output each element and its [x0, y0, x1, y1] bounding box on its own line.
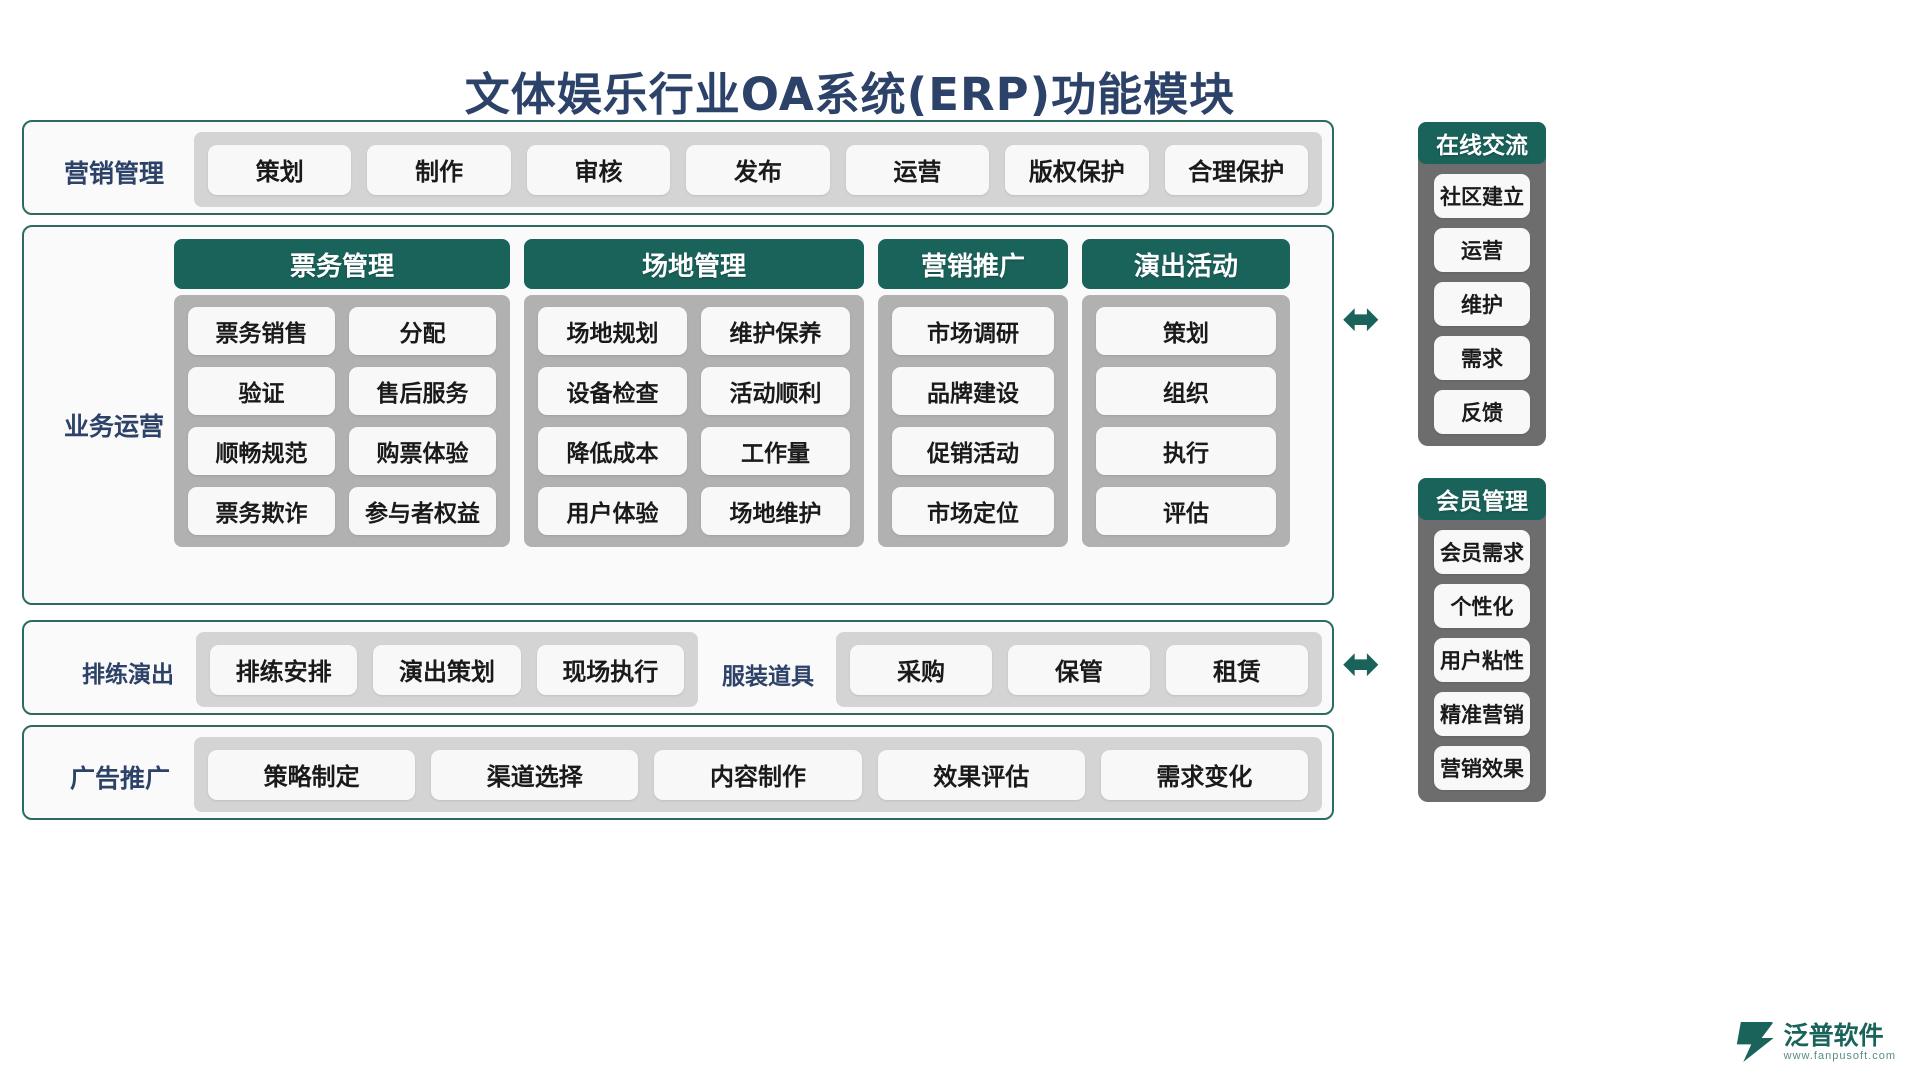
diagram-canvas: 文体娱乐行业OA系统(ERP)功能模块 营销管理 策划 制作 审核 发布 运营 … — [0, 0, 1920, 1080]
venue-item[interactable]: 用户体验 — [538, 487, 687, 535]
costume-item[interactable]: 保管 — [1008, 645, 1150, 695]
column-header-venue: 场地管理 — [524, 239, 864, 289]
section-label-costume: 服装道具 — [708, 657, 828, 691]
promotion-item[interactable]: 品牌建设 — [892, 367, 1054, 415]
promotion-item[interactable]: 市场调研 — [892, 307, 1054, 355]
advertising-item[interactable]: 渠道选择 — [431, 750, 638, 800]
ticketing-item[interactable]: 售后服务 — [349, 367, 496, 415]
column-body-performance: 策划 组织 执行 评估 — [1082, 295, 1290, 547]
advertising-item[interactable]: 策略制定 — [208, 750, 415, 800]
brand-logo-text: 泛普软件 www.fanpusoft.com — [1784, 1022, 1896, 1062]
operations-column-venue: 场地管理 场地规划 维护保养 设备检查 活动顺利 降低成本 工作量 用户体验 场… — [524, 239, 864, 547]
member-management-item[interactable]: 个性化 — [1434, 584, 1530, 628]
section-label-business-operations: 业务运营 — [44, 407, 184, 443]
ticketing-item[interactable]: 参与者权益 — [349, 487, 496, 535]
brand-name-cn: 泛普软件 — [1784, 1022, 1896, 1050]
venue-item[interactable]: 场地维护 — [701, 487, 850, 535]
double-arrow-icon-top: ⬌ — [1342, 295, 1381, 341]
online-communication-item[interactable]: 需求 — [1434, 336, 1530, 380]
brand-url: www.fanpusoft.com — [1784, 1050, 1896, 1062]
section-label-marketing: 营销管理 — [44, 154, 184, 190]
side-panel-header-online-communication: 在线交流 — [1418, 122, 1546, 164]
member-management-item[interactable]: 精准营销 — [1434, 692, 1530, 736]
ticketing-item[interactable]: 购票体验 — [349, 427, 496, 475]
column-body-promotion: 市场调研 品牌建设 促销活动 市场定位 — [878, 295, 1068, 547]
section-business-operations: 业务运营 票务管理 票务销售 分配 验证 售后服务 顺畅规范 购票体验 票务欺诈… — [22, 225, 1334, 605]
page-title: 文体娱乐行业OA系统(ERP)功能模块 — [0, 58, 1700, 123]
performance-item[interactable]: 执行 — [1096, 427, 1276, 475]
online-communication-item[interactable]: 维护 — [1434, 282, 1530, 326]
ticketing-item[interactable]: 顺畅规范 — [188, 427, 335, 475]
online-communication-item[interactable]: 社区建立 — [1434, 174, 1530, 218]
rehearsal-item[interactable]: 现场执行 — [537, 645, 684, 695]
performance-item[interactable]: 策划 — [1096, 307, 1276, 355]
column-header-promotion: 营销推广 — [878, 239, 1068, 289]
performance-item[interactable]: 评估 — [1096, 487, 1276, 535]
venue-item[interactable]: 场地规划 — [538, 307, 687, 355]
promotion-item[interactable]: 市场定位 — [892, 487, 1054, 535]
venue-item[interactable]: 降低成本 — [538, 427, 687, 475]
operations-column-performance: 演出活动 策划 组织 执行 评估 — [1082, 239, 1290, 547]
advertising-item-tray: 策略制定 渠道选择 内容制作 效果评估 需求变化 — [194, 737, 1322, 812]
marketing-item[interactable]: 策划 — [208, 145, 351, 195]
ticketing-item[interactable]: 分配 — [349, 307, 496, 355]
costume-item-tray: 采购 保管 租赁 — [836, 632, 1322, 707]
advertising-item[interactable]: 需求变化 — [1101, 750, 1308, 800]
column-body-venue: 场地规划 维护保养 设备检查 活动顺利 降低成本 工作量 用户体验 场地维护 — [524, 295, 864, 547]
column-header-performance: 演出活动 — [1082, 239, 1290, 289]
online-communication-item[interactable]: 反馈 — [1434, 390, 1530, 434]
side-panel-member-management: 会员管理 会员需求 个性化 用户粘性 精准营销 营销效果 — [1418, 478, 1546, 802]
venue-item[interactable]: 活动顺利 — [701, 367, 850, 415]
rehearsal-item-tray: 排练安排 演出策划 现场执行 — [196, 632, 698, 707]
section-advertising: 广告推广 策略制定 渠道选择 内容制作 效果评估 需求变化 — [22, 725, 1334, 820]
marketing-item[interactable]: 制作 — [367, 145, 510, 195]
marketing-item[interactable]: 审核 — [527, 145, 670, 195]
operations-column-promotion: 营销推广 市场调研 品牌建设 促销活动 市场定位 — [878, 239, 1068, 547]
marketing-item[interactable]: 合理保护 — [1165, 145, 1308, 195]
performance-item[interactable]: 组织 — [1096, 367, 1276, 415]
rehearsal-item[interactable]: 演出策划 — [373, 645, 520, 695]
marketing-item[interactable]: 发布 — [686, 145, 829, 195]
venue-item[interactable]: 维护保养 — [701, 307, 850, 355]
section-rehearsal: 排练演出 排练安排 演出策划 现场执行 服装道具 采购 保管 租赁 — [22, 620, 1334, 715]
side-panel-header-member-management: 会员管理 — [1418, 478, 1546, 520]
section-marketing: 营销管理 策划 制作 审核 发布 运营 版权保护 合理保护 — [22, 120, 1334, 215]
marketing-item-tray: 策划 制作 审核 发布 运营 版权保护 合理保护 — [194, 132, 1322, 207]
ticketing-item[interactable]: 验证 — [188, 367, 335, 415]
operations-columns: 票务管理 票务销售 分配 验证 售后服务 顺畅规范 购票体验 票务欺诈 参与者权… — [174, 239, 1322, 591]
member-management-item[interactable]: 会员需求 — [1434, 530, 1530, 574]
advertising-item[interactable]: 效果评估 — [878, 750, 1085, 800]
ticketing-item[interactable]: 票务欺诈 — [188, 487, 335, 535]
costume-item[interactable]: 采购 — [850, 645, 992, 695]
member-management-item[interactable]: 营销效果 — [1434, 746, 1530, 790]
venue-item[interactable]: 工作量 — [701, 427, 850, 475]
venue-item[interactable]: 设备检查 — [538, 367, 687, 415]
column-header-ticketing: 票务管理 — [174, 239, 510, 289]
section-label-advertising: 广告推广 — [50, 759, 190, 795]
marketing-item[interactable]: 版权保护 — [1005, 145, 1148, 195]
promotion-item[interactable]: 促销活动 — [892, 427, 1054, 475]
advertising-item[interactable]: 内容制作 — [654, 750, 861, 800]
marketing-item[interactable]: 运营 — [846, 145, 989, 195]
online-communication-item[interactable]: 运营 — [1434, 228, 1530, 272]
section-label-rehearsal: 排练演出 — [60, 655, 196, 689]
side-panel-online-communication: 在线交流 社区建立 运营 维护 需求 反馈 — [1418, 122, 1546, 446]
fanpu-logo-icon — [1734, 1022, 1774, 1062]
costume-item[interactable]: 租赁 — [1166, 645, 1308, 695]
double-arrow-icon-bottom: ⬌ — [1342, 640, 1381, 686]
brand-logo: 泛普软件 www.fanpusoft.com — [1734, 1022, 1896, 1062]
operations-column-ticketing: 票务管理 票务销售 分配 验证 售后服务 顺畅规范 购票体验 票务欺诈 参与者权… — [174, 239, 510, 547]
column-body-ticketing: 票务销售 分配 验证 售后服务 顺畅规范 购票体验 票务欺诈 参与者权益 — [174, 295, 510, 547]
rehearsal-item[interactable]: 排练安排 — [210, 645, 357, 695]
member-management-item[interactable]: 用户粘性 — [1434, 638, 1530, 682]
ticketing-item[interactable]: 票务销售 — [188, 307, 335, 355]
